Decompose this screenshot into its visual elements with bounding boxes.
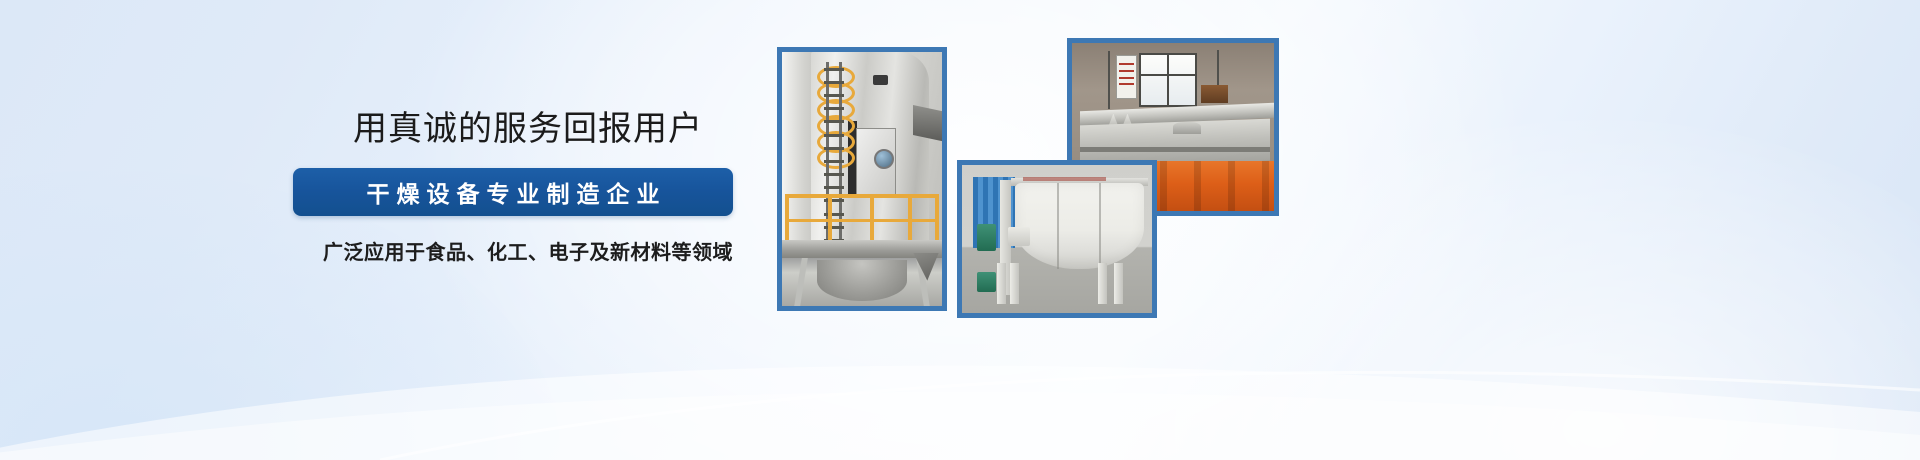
photo-spray-dryer-tower — [777, 47, 947, 311]
photo-spray-dryer-tower-content — [782, 52, 942, 306]
promo-banner: 用真诚的服务回报用户 干燥设备专业制造企业 广泛应用于食品、化工、电子及新材料等… — [0, 0, 1920, 460]
photo-ribbon-mixer-content — [962, 165, 1152, 313]
photo-ribbon-mixer — [957, 160, 1157, 318]
product-photo-collage — [0, 0, 1920, 460]
